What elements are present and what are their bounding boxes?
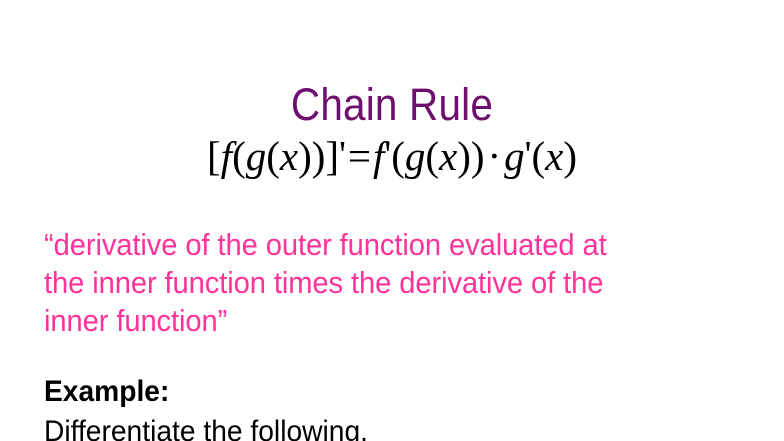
formula-equals-sign: = [346, 133, 373, 179]
formula-lhs-prime: ' [339, 134, 346, 176]
formula-open-bracket: [ [207, 133, 221, 179]
page-title: Chain Rule [39, 82, 745, 127]
chain-rule-formula: [f(g(x))]'=f'(g(x))·g'(x) [0, 134, 784, 179]
formula-rhs-close-paren-1: ) [471, 133, 485, 179]
formula-lhs-g: g [246, 133, 267, 179]
example-instruction: Differentiate the following. [44, 412, 713, 441]
formula-rhs-x-2: x [545, 133, 563, 179]
description-line: the inner function times the derivative … [44, 264, 713, 302]
chain-rule-description: “derivative of the outer function evalua… [44, 226, 713, 340]
formula-rhs-f: f [373, 133, 384, 179]
formula-rhs-x-1: x [439, 133, 457, 179]
formula-multiplication-dot: · [485, 133, 505, 179]
formula-rhs-g-1: g [405, 133, 426, 179]
slide-canvas: Chain Rule [f(g(x))]'=f'(g(x))·g'(x) “de… [0, 0, 784, 441]
formula-close-bracket: ] [325, 133, 339, 179]
formula-rhs-open-paren-3: ( [531, 133, 545, 179]
formula-rhs-close-paren-2: ) [457, 133, 471, 179]
formula-lhs-close-paren-1: ) [312, 133, 326, 179]
formula-lhs-open-paren-1: ( [232, 133, 246, 179]
formula-lhs-close-paren-2: ) [298, 133, 312, 179]
description-line: inner function” [44, 302, 713, 340]
description-line: “derivative of the outer function evalua… [44, 226, 713, 264]
example-section: Example: Differentiate the following. [44, 372, 713, 441]
example-heading: Example: [44, 372, 713, 412]
formula-lhs-f: f [221, 133, 232, 179]
formula-rhs-open-paren-2: ( [425, 133, 439, 179]
formula-rhs-open-paren-1: ( [391, 133, 405, 179]
formula-lhs-x: x [280, 133, 298, 179]
formula-rhs-close-paren-3: ) [563, 133, 577, 179]
formula-lhs-open-paren-2: ( [266, 133, 280, 179]
formula-rhs-g-2: g [504, 133, 525, 179]
